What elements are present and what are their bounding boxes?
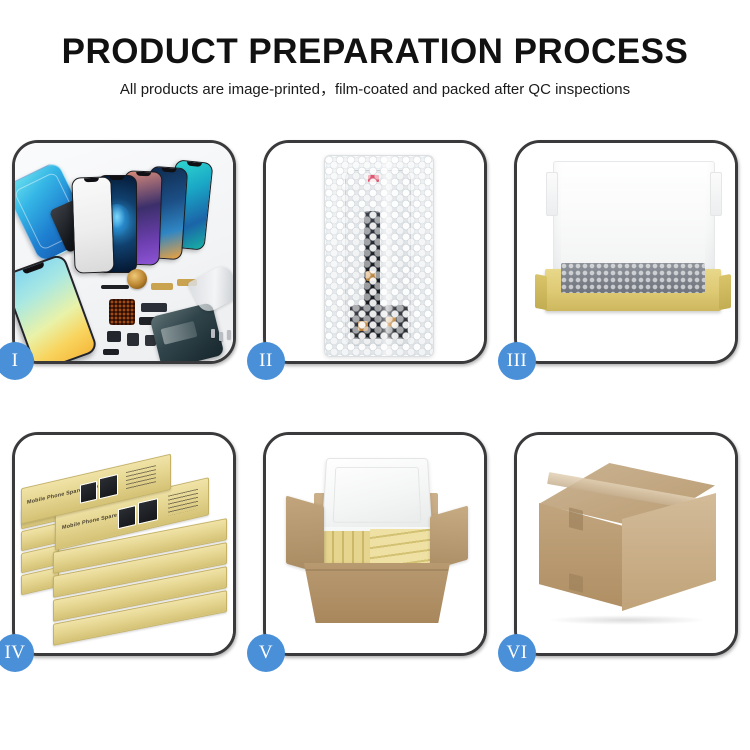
screws-group — [211, 329, 233, 345]
page-title: PRODUCT PREPARATION PROCESS — [0, 34, 750, 71]
box-stack: Mobile Phone Spare Parts Mobile Phone Sp… — [21, 461, 233, 641]
vibration-motor-part — [127, 269, 147, 289]
gray-bubble-wrap-contents — [561, 263, 705, 293]
step-image-4: Mobile Phone Spare Parts Mobile Phone Sp… — [15, 435, 233, 653]
step-panel-2: II — [263, 140, 487, 364]
step-badge-2: II — [247, 342, 285, 380]
notch-icon — [136, 172, 151, 177]
step-badge-4: IV — [0, 634, 34, 672]
screw-part — [227, 330, 231, 339]
carton-flap-right — [430, 506, 468, 571]
box-window — [99, 474, 118, 499]
box-window — [138, 498, 158, 525]
step-badge-5: V — [247, 634, 285, 672]
step-panel-1: I — [12, 140, 236, 364]
process-steps-grid: I II — [12, 140, 738, 656]
plastic-glare — [379, 156, 395, 356]
step-panel-4: Mobile Phone Spare Parts Mobile Phone Sp… — [12, 432, 236, 656]
step-badge-3: III — [498, 342, 536, 380]
foam-box-lid — [322, 458, 433, 533]
box-window — [118, 505, 136, 529]
carton-flap-left — [286, 496, 324, 575]
notch-icon — [187, 161, 202, 167]
chip-grid-part — [109, 299, 135, 325]
notch-icon — [161, 168, 176, 173]
box-spec-lines — [168, 489, 198, 516]
phone-screen-lineup — [67, 159, 227, 279]
notch-icon — [84, 178, 99, 183]
step-image-6 — [517, 435, 735, 653]
step-badge-6: VI — [498, 634, 536, 672]
step-image-1 — [15, 143, 233, 361]
screw-part — [219, 332, 223, 341]
phone-screen-1 — [71, 176, 114, 273]
step-image-5 — [266, 435, 484, 653]
step-panel-3: III — [514, 140, 738, 364]
small-component-part — [103, 349, 119, 355]
screw-part — [211, 329, 215, 338]
carton-seam — [569, 573, 583, 592]
flex-cable-part — [151, 283, 173, 290]
yellow-inner-box — [545, 269, 721, 311]
page-header: PRODUCT PREPARATION PROCESS All products… — [0, 0, 750, 99]
box-window — [80, 481, 97, 504]
step-panel-5: V — [263, 432, 487, 656]
box-spec-lines — [126, 465, 156, 491]
step-panel-6: VI — [514, 432, 738, 656]
flex-cable-part — [141, 303, 167, 312]
connector-strip-part — [101, 285, 129, 289]
carton-seam — [569, 507, 583, 530]
carton-front-wall — [304, 563, 450, 623]
notch-icon — [110, 176, 125, 180]
small-component-part — [107, 331, 121, 342]
step-badge-1: I — [0, 342, 34, 380]
bubble-wrap-bag — [324, 155, 434, 357]
small-component-part — [127, 333, 139, 346]
page-subtitle: All products are image-printed，film-coat… — [0, 81, 750, 99]
step-image-2 — [266, 143, 484, 361]
carton-shadow — [547, 615, 707, 625]
step-image-3 — [517, 143, 735, 361]
